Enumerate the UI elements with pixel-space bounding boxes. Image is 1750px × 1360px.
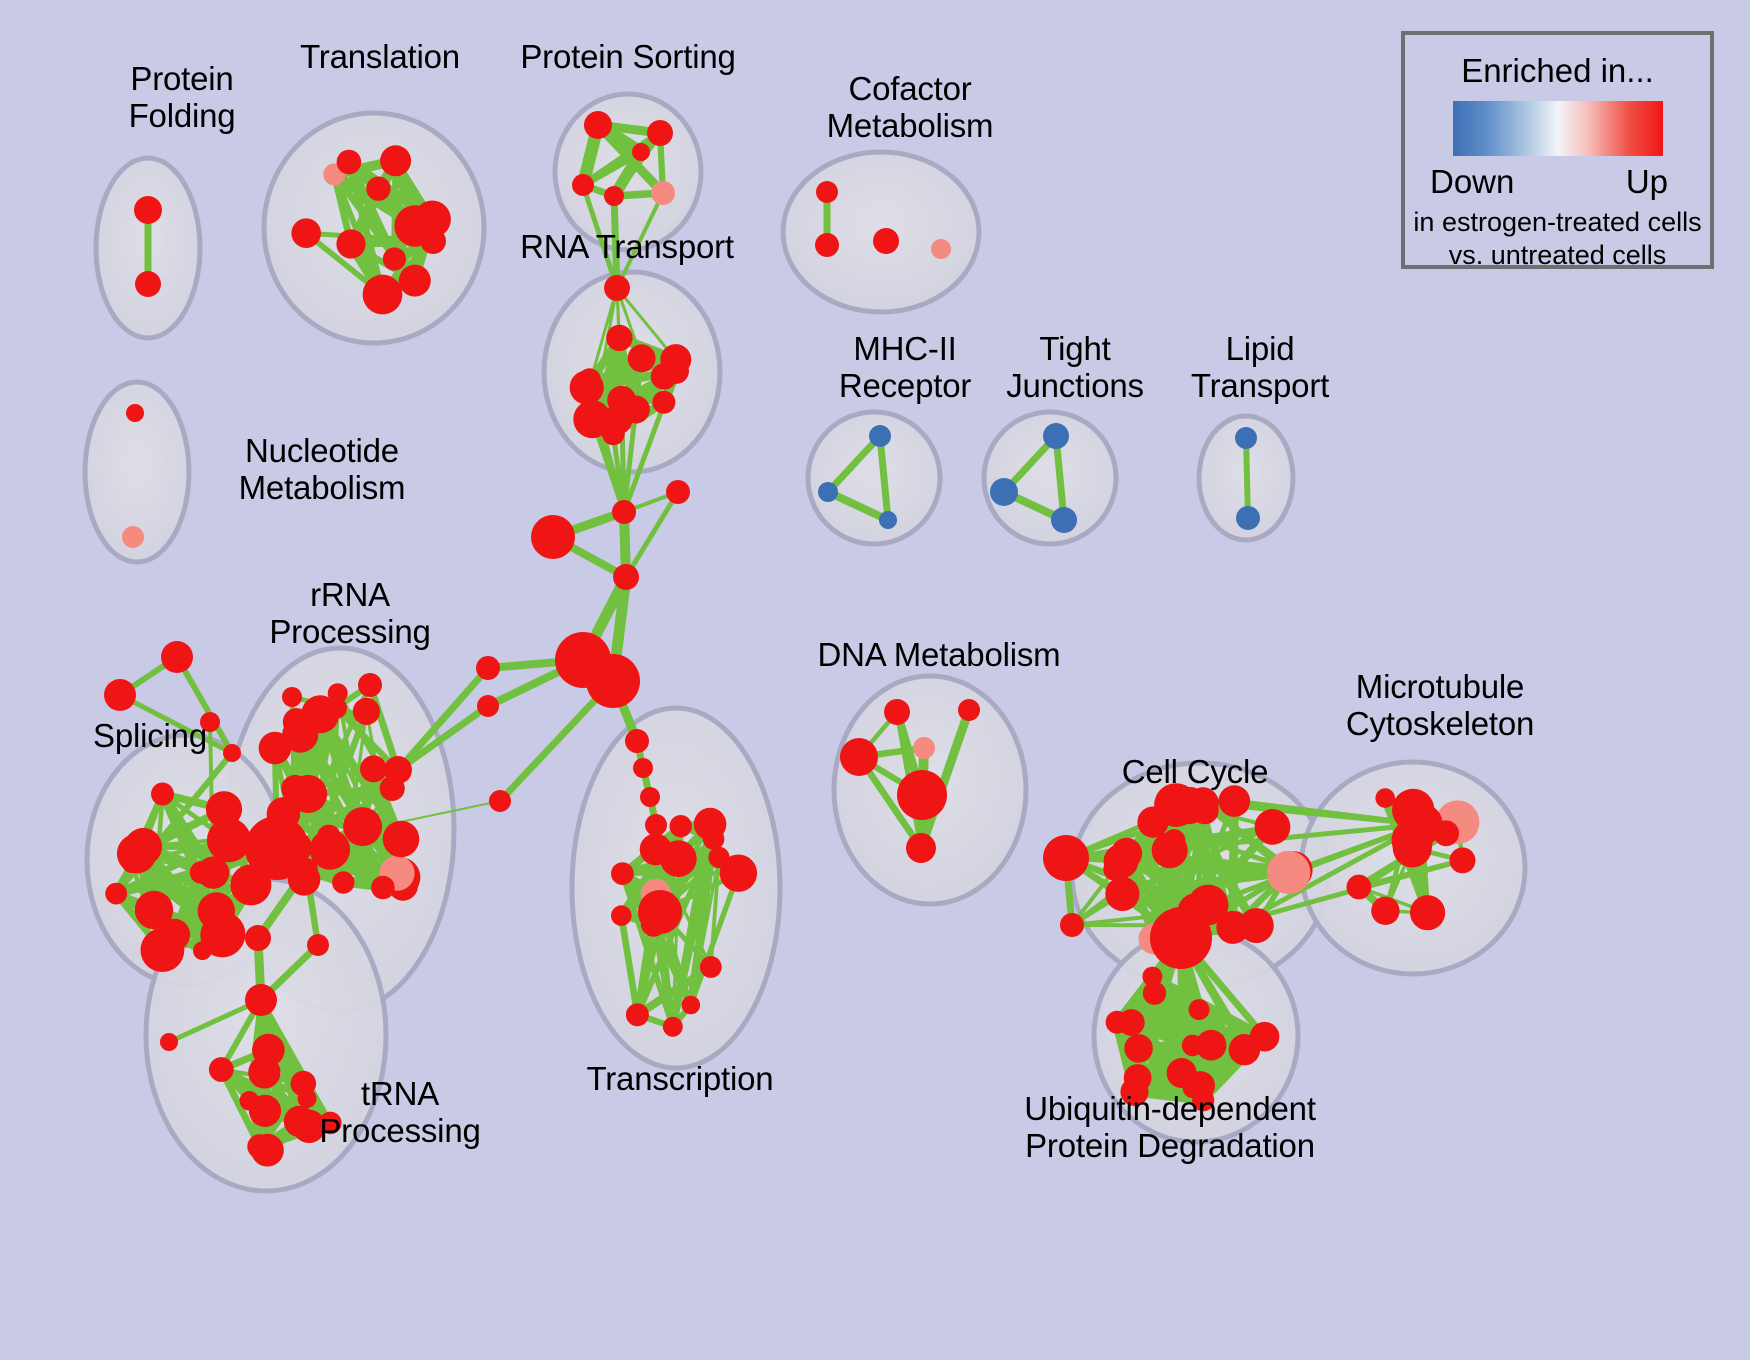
network-node — [1347, 875, 1372, 900]
network-node — [353, 698, 380, 725]
network-node — [931, 239, 951, 259]
network-node — [122, 526, 144, 548]
network-node — [248, 1056, 280, 1088]
network-node — [1060, 913, 1084, 937]
legend-down-label: Down — [1430, 163, 1514, 201]
network-node — [1393, 828, 1432, 867]
network-node — [622, 396, 650, 424]
network-node — [151, 783, 174, 806]
network-node — [632, 143, 650, 161]
network-node — [122, 854, 141, 873]
network-node — [660, 840, 697, 877]
network-node — [343, 807, 382, 846]
network-node — [897, 770, 947, 820]
network-node — [1196, 1030, 1227, 1061]
network-node — [332, 871, 354, 893]
network-node — [611, 862, 634, 885]
network-node — [380, 145, 411, 176]
cluster-label-splicing: Splicing — [60, 717, 240, 754]
network-node — [652, 391, 675, 414]
cluster-label-rrna-processing: rRNA Processing — [250, 576, 450, 650]
network-node — [645, 814, 667, 836]
legend-box: Enriched in... Down Up in estrogen-treat… — [1401, 31, 1714, 269]
network-node — [1267, 851, 1310, 894]
network-node — [651, 181, 675, 205]
network-node — [913, 737, 935, 759]
network-node — [708, 847, 729, 868]
network-node — [366, 177, 390, 201]
network-node — [1250, 1022, 1280, 1052]
network-node — [394, 205, 435, 246]
network-node — [209, 1057, 234, 1082]
network-node — [1255, 809, 1291, 845]
network-node — [240, 1091, 260, 1111]
network-node — [666, 480, 690, 504]
network-node — [104, 679, 136, 711]
network-node — [1410, 895, 1445, 930]
cluster-label-lipid-transport: Lipid Transport — [1160, 330, 1360, 404]
network-node — [1051, 507, 1077, 533]
network-node — [578, 368, 601, 391]
network-node — [1124, 1034, 1153, 1063]
network-node — [1371, 897, 1399, 925]
network-node — [1143, 982, 1166, 1005]
network-node — [626, 1003, 649, 1026]
legend-color-gradient-bar — [1453, 101, 1663, 156]
network-node — [399, 265, 431, 297]
network-node — [640, 787, 660, 807]
network-node — [906, 833, 936, 863]
network-node — [283, 708, 311, 736]
network-node — [606, 325, 632, 351]
network-node — [651, 363, 677, 389]
network-node — [670, 815, 692, 837]
network-node — [489, 790, 511, 812]
cluster-label-ubiquitin-degradation: Ubiquitin-dependent Protein Degradation — [990, 1090, 1350, 1164]
network-node — [703, 828, 725, 850]
network-node — [869, 425, 891, 447]
network-node — [134, 196, 162, 224]
cluster-label-tight-junctions: Tight Junctions — [975, 330, 1175, 404]
cluster-label-microtubule-cytoskeleton: Microtubule Cytoskeleton — [1310, 668, 1570, 742]
network-node — [633, 758, 653, 778]
network-node — [873, 228, 899, 254]
network-node — [682, 996, 701, 1015]
legend-title: Enriched in... — [1405, 52, 1710, 90]
network-node — [291, 218, 321, 248]
network-node — [625, 729, 649, 753]
network-node — [1375, 788, 1395, 808]
network-node — [647, 120, 673, 146]
network-node — [628, 344, 656, 372]
cluster-label-cell-cycle: Cell Cycle — [1105, 753, 1285, 790]
network-node — [358, 673, 382, 697]
cluster-label-translation: Translation — [290, 38, 470, 75]
network-node — [201, 912, 246, 957]
network-node — [135, 891, 173, 929]
network-node — [531, 515, 575, 559]
cluster-label-nucleotide-metabolism: Nucleotide Metabolism — [197, 432, 447, 506]
network-node — [818, 482, 838, 502]
legend-up-label: Up — [1626, 163, 1668, 201]
network-node — [1189, 999, 1210, 1020]
network-node — [1124, 1064, 1152, 1092]
network-node — [1219, 785, 1251, 817]
network-edge — [1246, 438, 1248, 518]
network-node — [251, 1134, 284, 1167]
network-node — [161, 641, 193, 673]
network-node — [663, 1017, 683, 1037]
network-node — [879, 511, 897, 529]
legend-subtitle-line-2: vs. untreated cells — [1405, 240, 1710, 271]
network-node — [476, 656, 500, 680]
network-node — [1105, 877, 1139, 911]
network-node — [1043, 423, 1069, 449]
cluster-label-trna-processing: tRNA Processing — [300, 1075, 500, 1149]
enrichment-map-figure: Protein FoldingTranslationProtein Sortin… — [0, 0, 1750, 1360]
network-node — [840, 738, 878, 776]
network-node — [307, 934, 329, 956]
network-node — [160, 1033, 178, 1051]
network-node — [1236, 506, 1260, 530]
cluster-label-protein-folding: Protein Folding — [82, 60, 282, 134]
network-edge — [626, 492, 678, 577]
network-node — [245, 984, 277, 1016]
network-node — [383, 821, 420, 858]
network-node — [700, 956, 722, 978]
network-node — [1103, 858, 1126, 881]
cluster-label-dna-metabolism: DNA Metabolism — [814, 636, 1064, 673]
network-node — [105, 883, 127, 905]
network-node — [383, 247, 406, 270]
network-node — [604, 186, 624, 206]
network-node — [384, 756, 412, 784]
network-node — [611, 905, 632, 926]
network-node — [206, 791, 242, 827]
network-node — [1392, 789, 1434, 831]
network-node — [1043, 835, 1089, 881]
network-node — [294, 858, 318, 882]
network-node — [336, 229, 365, 258]
network-node — [363, 275, 403, 315]
network-node — [1433, 820, 1459, 846]
network-node — [1450, 847, 1476, 873]
network-node — [604, 275, 630, 301]
legend-subtitle-line-1: in estrogen-treated cells — [1405, 207, 1710, 238]
network-node — [1163, 829, 1186, 852]
cluster-label-cofactor-metabolism: Cofactor Metabolism — [795, 70, 1025, 144]
network-node — [245, 925, 271, 951]
network-node — [325, 697, 347, 719]
network-node — [638, 890, 682, 934]
network-node — [1150, 907, 1212, 969]
network-node — [337, 150, 362, 175]
network-node — [816, 181, 838, 203]
network-node — [190, 861, 213, 884]
cluster-label-transcription: Transcription — [570, 1060, 790, 1097]
cluster-label-rna-transport: RNA Transport — [512, 228, 742, 265]
network-node — [360, 755, 387, 782]
network-node — [1118, 1009, 1145, 1036]
network-node — [612, 500, 636, 524]
network-node — [572, 174, 594, 196]
network-node — [1235, 427, 1257, 449]
network-node — [126, 404, 144, 422]
network-node — [135, 271, 161, 297]
network-node — [584, 111, 612, 139]
network-node — [958, 699, 980, 721]
network-node — [219, 827, 243, 851]
network-node — [613, 564, 639, 590]
network-node — [884, 699, 910, 725]
network-node — [586, 654, 640, 708]
network-node — [371, 876, 395, 900]
network-node — [477, 695, 499, 717]
cluster-label-protein-sorting: Protein Sorting — [513, 38, 743, 75]
network-node — [282, 687, 302, 707]
network-node — [990, 478, 1018, 506]
network-node — [815, 233, 839, 257]
